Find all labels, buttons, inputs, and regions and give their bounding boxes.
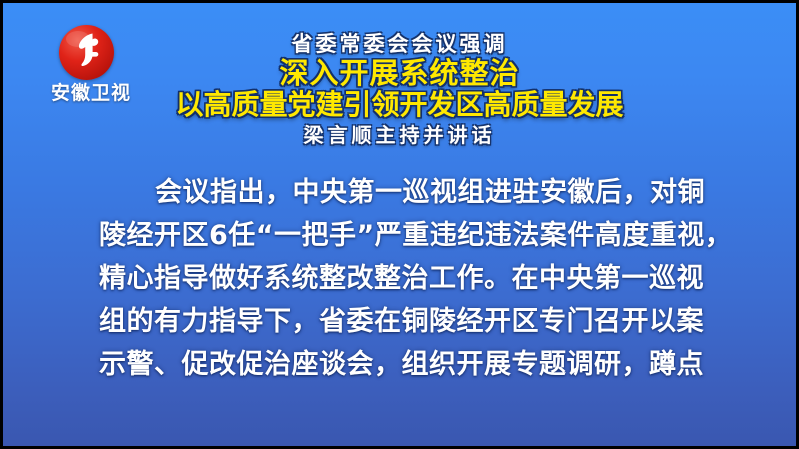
- headline-block: 省委常委会会议强调 深入开展系统整治 以高质量党建引领开发区高质量发展 梁言顺主…: [3, 33, 796, 146]
- headline-main-line-2: 以高质量党建引领开发区高质量发展: [3, 90, 796, 120]
- broadcast-panel: 安徽卫视 省委常委会会议强调 深入开展系统整治 以高质量党建引领开发区高质量发展…: [3, 3, 796, 446]
- body-line: 组的有力指导下，省委在铜陵经开区专门召开以案: [99, 300, 709, 343]
- body-line: 精心指导做好系统整改整治工作。在中央第一巡视: [99, 257, 709, 300]
- broadcast-screen: 安徽卫视 省委常委会会议强调 深入开展系统整治 以高质量党建引领开发区高质量发展…: [0, 0, 799, 449]
- headline-speaker: 梁言顺主持并讲话: [3, 125, 796, 146]
- body-line: 会议指出，中央第一巡视组进驻安徽后，对铜: [99, 171, 709, 214]
- body-paragraph: 会议指出，中央第一巡视组进驻安徽后，对铜 陵经开区6任“一把手”严重违纪违法案件…: [99, 171, 709, 386]
- headline-kicker: 省委常委会会议强调: [3, 33, 796, 55]
- headline-main-line-1: 深入开展系统整治: [3, 58, 796, 89]
- body-line: 陵经开区6任“一把手”严重违纪违法案件高度重视，: [99, 214, 709, 257]
- body-line: 示警、促改促治座谈会，组织开展专题调研，蹲点: [99, 343, 709, 386]
